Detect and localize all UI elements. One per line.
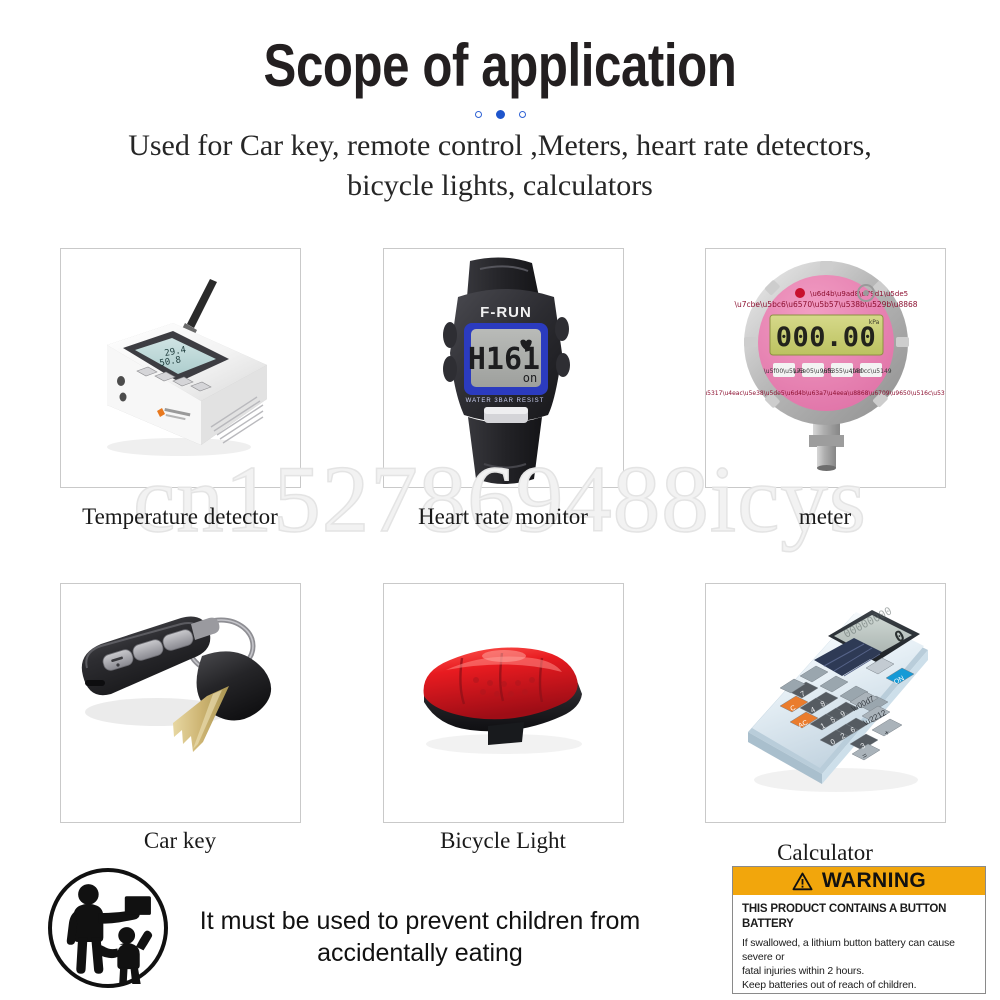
product-caption-meter: meter [685,504,965,530]
carousel-dots [0,110,1000,119]
product-image-calculator: 00000000 0 [706,584,945,822]
battery-warning-label: WARNING THIS PRODUCT CONTAINS A BUTTON B… [732,866,986,994]
warning-line: If you think batteries may have been swa… [742,992,977,994]
warning-line: If swallowed, a lithium button battery c… [742,936,977,964]
carousel-dot-3[interactable] [519,111,526,118]
carousel-dot-2-active[interactable] [496,110,505,119]
page-subtitle: Used for Car key, remote control ,Meters… [100,126,900,206]
sport-watch-illustration: F-RUN H161 on WATER 3BAR RESIST [384,249,623,487]
page-title: Scope of application [90,34,910,98]
product-caption-car-key: Car key [40,828,320,854]
car-key-illustration [61,584,300,822]
svg-text:\u7cbe\u5bc6\u6570\u5b57\u538b: \u7cbe\u5bc6\u6570\u5b57\u538b\u529b\u88… [734,300,917,309]
warning-header-text: WARNING [822,869,926,893]
bicycle-light-illustration [384,584,623,822]
adult-keeping-object-from-child-icon [52,872,164,984]
product-panel-heart-rate-monitor[interactable]: F-RUN H161 on WATER 3BAR RESIST [383,248,624,488]
child-safety-icon [48,868,168,988]
warning-line: fatal injuries within 2 hours. [742,964,977,978]
product-panel-temperature-detector[interactable]: 29.4 50.8 [60,248,301,488]
svg-text:\u80cc\u5149: \u80cc\u5149 [850,368,891,375]
warning-triangle-icon [792,872,813,891]
carousel-dot-1[interactable] [475,111,482,118]
product-panel-calculator[interactable]: 00000000 0 [705,583,946,823]
product-image-temperature-detector: 29.4 50.8 [61,249,300,487]
product-image-car-key [61,584,300,822]
product-caption-heart-rate-monitor: Heart rate monitor [363,504,643,530]
temperature-detector-illustration: 29.4 50.8 [61,249,300,487]
product-caption-temperature-detector: Temperature detector [40,504,320,530]
product-caption-bicycle-light: Bicycle Light [363,828,643,854]
svg-text:000.00: 000.00 [776,322,877,353]
product-caption-calculator: Calculator [685,840,965,866]
svg-text:WATER 3BAR RESIST: WATER 3BAR RESIST [466,398,545,404]
product-panel-meter[interactable]: \u6d4b\u9ad8\u79d1\u5de5 \u7cbe\u5bc6\u6… [705,248,946,488]
svg-text:\u5317\u4eac\u5e38\u5de5\u6d4b: \u5317\u4eac\u5e38\u5de5\u6d4b\u63a7\u4e… [706,390,945,397]
svg-text:F-RUN: F-RUN [480,304,532,321]
warning-line: Keep batteries out of reach of children. [742,978,977,992]
product-panel-bicycle-light[interactable] [383,583,624,823]
pressure-gauge-illustration: \u6d4b\u9ad8\u79d1\u5de5 \u7cbe\u5bc6\u6… [706,249,945,487]
warning-body: THIS PRODUCT CONTAINS A BUTTON BATTERY I… [733,895,985,994]
product-panel-car-key[interactable] [60,583,301,823]
product-image-heart-rate-monitor: F-RUN H161 on WATER 3BAR RESIST [384,249,623,487]
child-safety-note: It must be used to prevent children from… [180,905,660,969]
warning-header: WARNING [733,867,985,895]
svg-text:on: on [523,371,537,385]
svg-text:kPa: kPa [869,319,880,326]
calculator-illustration: 00000000 0 [706,584,945,822]
warning-lead-text: THIS PRODUCT CONTAINS A BUTTON BATTERY [742,902,977,932]
product-image-bicycle-light [384,584,623,822]
product-image-meter: \u6d4b\u9ad8\u79d1\u5de5 \u7cbe\u5bc6\u6… [706,249,945,487]
